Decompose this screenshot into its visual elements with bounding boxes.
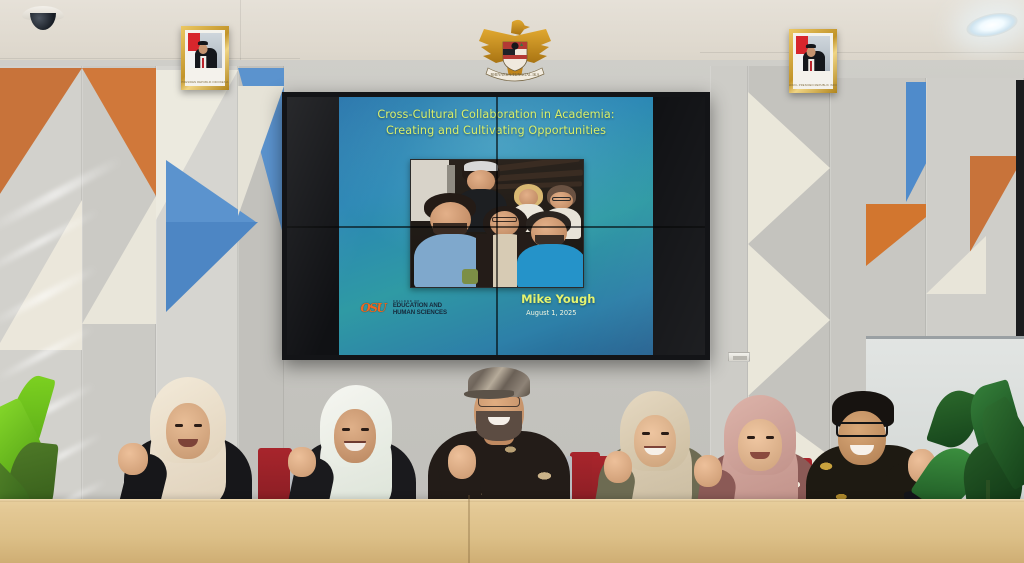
person-3-finger-heart-hand	[448, 445, 476, 479]
person-5-eye-l	[747, 436, 755, 439]
portrait-caption: PRESIDEN REPUBLIK INDONESIA	[181, 80, 229, 90]
person-1-face	[166, 403, 210, 459]
wall-triangle-orange-1	[0, 68, 82, 200]
person-1-eye-r	[194, 424, 202, 427]
room-photo-scene: PRESIDEN REPUBLIK INDONESIA WAKIL PRESID…	[0, 0, 1024, 563]
table-seam	[468, 495, 470, 563]
portrait-caption: WAKIL PRESIDEN REPUBLIK INDONESIA	[789, 83, 837, 93]
table-edge	[0, 499, 1024, 502]
person-5-finger-heart-hand	[694, 455, 722, 487]
conference-table	[0, 499, 1024, 563]
glass-partition-rail	[866, 336, 1024, 339]
person-6-glasses-icon	[836, 422, 888, 437]
presenter-name: Mike Yough	[521, 292, 595, 306]
person-6-face	[838, 411, 886, 465]
dark-wall-recess	[1016, 80, 1024, 370]
osu-college-logo: OSU COLLEGE OF EDUCATION AND HUMAN SCIEN…	[358, 300, 447, 315]
person-4-face	[634, 415, 676, 467]
wall-triangle-orange-2	[82, 68, 156, 196]
presentation-date: August 1, 2025	[526, 309, 595, 317]
wall-triangle-cream-1	[0, 200, 82, 350]
wall-triangle-cream-6	[926, 236, 986, 294]
dome-security-camera-icon	[22, 6, 64, 32]
presenter-block: Mike Yough August 1, 2025	[521, 292, 595, 317]
light-switch-plate[interactable]	[728, 352, 750, 362]
vice-president-portrait: WAKIL PRESIDEN REPUBLIK INDONESIA	[789, 29, 837, 93]
wall-triangle-white-1	[82, 196, 156, 324]
person-1-eye-l	[175, 424, 183, 427]
president-portrait: PRESIDEN REPUBLIK INDONESIA	[181, 26, 229, 90]
person-4-finger-heart-hand	[604, 451, 632, 483]
garuda-pancasila-emblem-icon: BHINNEKA TUNGGAL IKA	[476, 14, 554, 86]
person-2-finger-heart-hand	[288, 447, 316, 477]
videowall-seam-horizontal	[287, 226, 705, 228]
person-5-eye-r	[766, 436, 774, 439]
logo-line-3: HUMAN SCIENCES	[393, 310, 447, 316]
video-wall-2x2[interactable]: Cross-Cultural Collaboration in Academia…	[282, 92, 710, 360]
person-5-face	[738, 419, 782, 471]
wall-triangle-cream-3	[748, 92, 830, 244]
wall-triangle-blue-3	[166, 222, 258, 312]
person-4-eye-l	[642, 432, 650, 435]
person-3-cap-brim	[464, 390, 514, 399]
garuda-motto: BHINNEKA TUNGGAL IKA	[491, 72, 540, 77]
person-2-eye-l	[342, 428, 350, 431]
osu-brand-mark-icon: OSU	[358, 301, 388, 316]
person-4-eye-r	[661, 432, 669, 435]
person-2-eye-r	[361, 428, 369, 431]
person-2-face	[334, 409, 376, 463]
wall-triangle-cream-2	[238, 86, 284, 216]
